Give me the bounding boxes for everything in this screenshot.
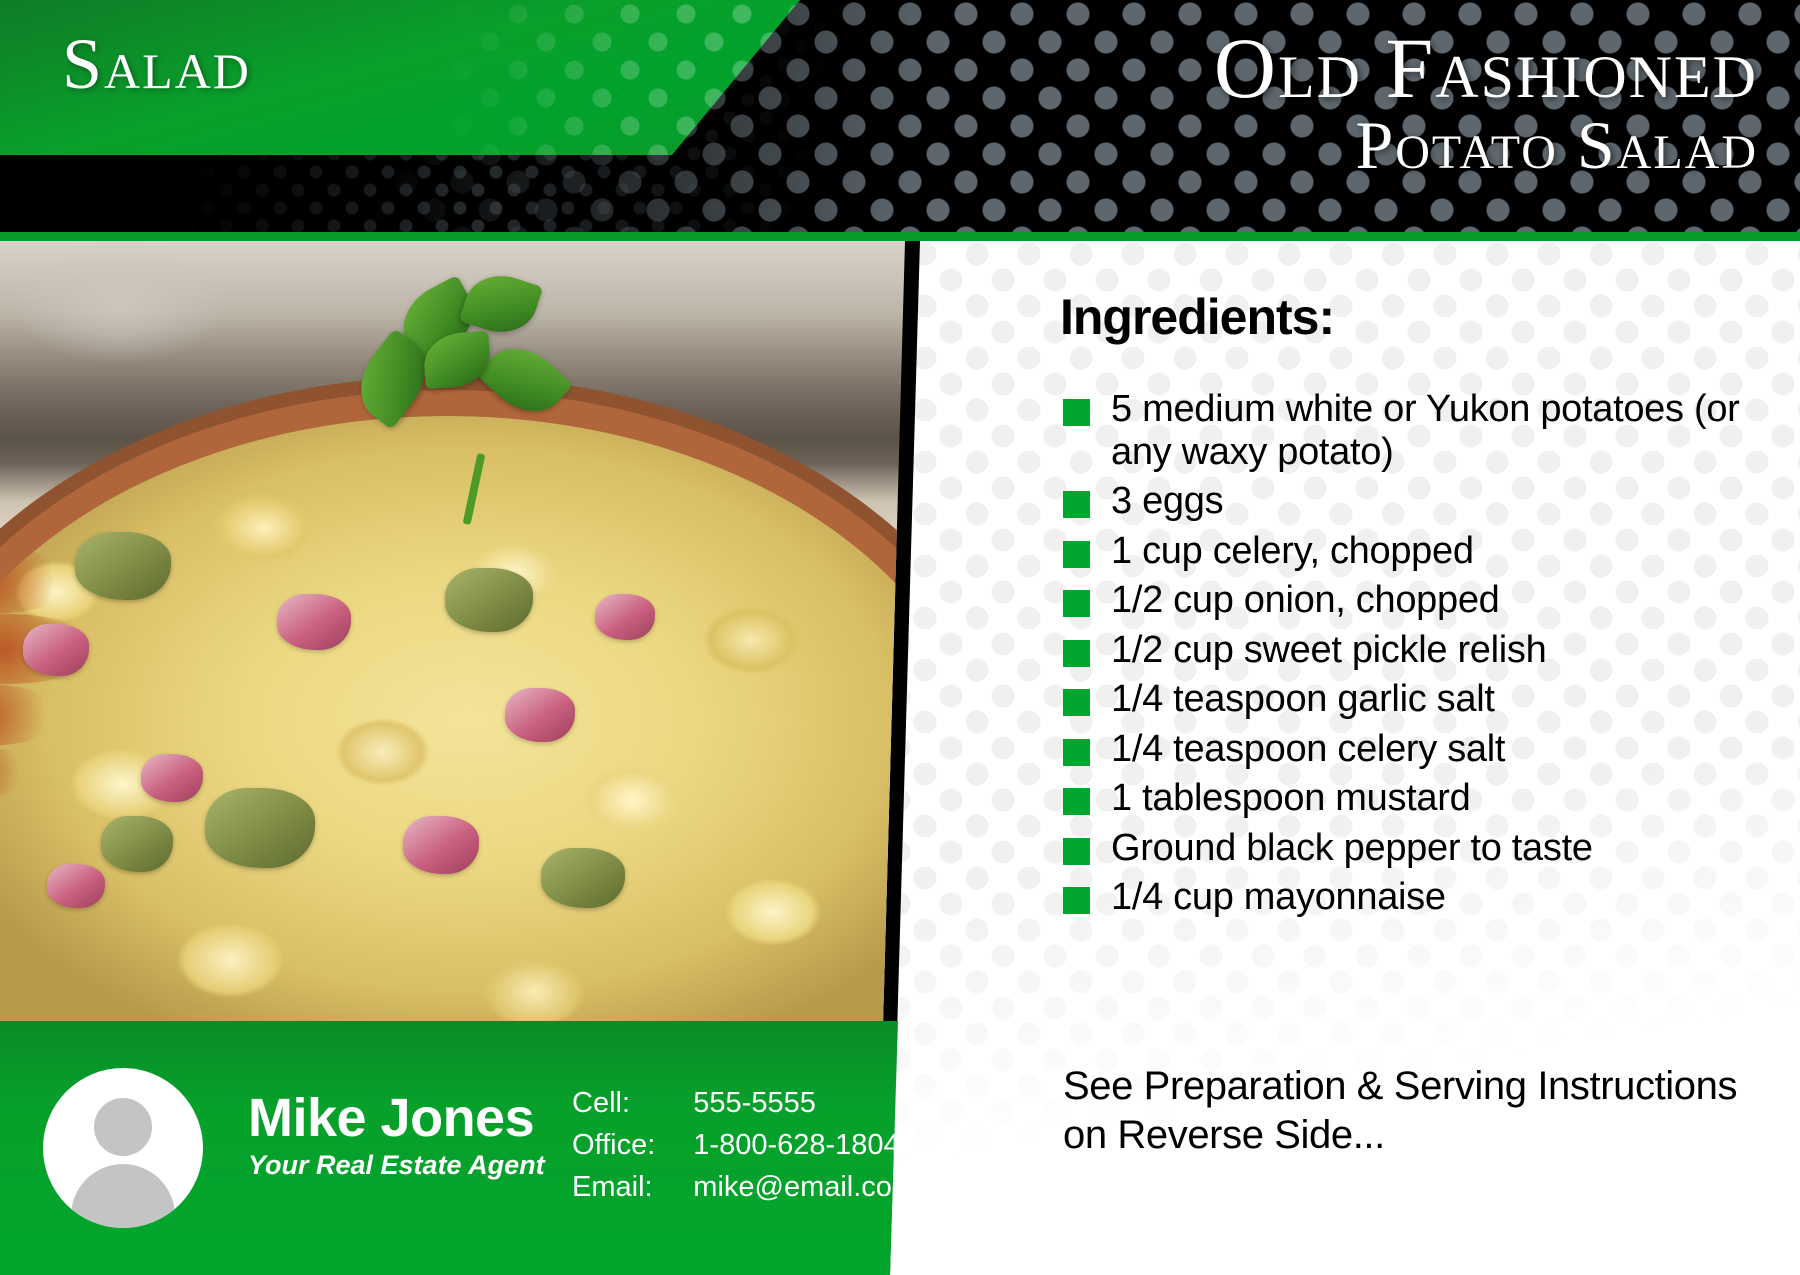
ingredient-text: 3 eggs <box>1111 480 1223 522</box>
bullet-square-icon <box>1063 590 1090 617</box>
onion-piece <box>595 594 655 640</box>
contact-value-cell[interactable]: 555-5555 <box>693 1083 916 1125</box>
bullet-square-icon <box>1063 399 1090 426</box>
ingredient-item: 1 cup celery, chopped <box>1063 530 1753 573</box>
contact-value-office[interactable]: 1-800-628-1804 <box>693 1125 916 1167</box>
paprika-sprinkle <box>0 548 75 614</box>
ingredient-text: 1/4 teaspoon celery salt <box>1111 728 1505 770</box>
contact-label-cell: Cell: <box>572 1083 693 1125</box>
bullet-square-icon <box>1063 838 1090 865</box>
ingredients-heading: Ingredients: <box>1060 288 1334 346</box>
onion-piece <box>505 688 575 742</box>
pickle-piece <box>75 532 171 600</box>
ingredient-item: 1 tablespoon mustard <box>1063 777 1753 820</box>
bullet-square-icon <box>1063 689 1090 716</box>
bullet-square-icon <box>1063 887 1090 914</box>
paprika-sprinkle <box>0 488 55 548</box>
recipe-card: Salad Old Fashioned Potato Salad <box>0 0 1800 1275</box>
contact-row: Cell: 555-5555 <box>572 1083 916 1125</box>
recipe-title-line2: Potato Salad <box>1214 112 1758 179</box>
ingredient-item: 1/4 teaspoon celery salt <box>1063 728 1753 771</box>
onion-piece <box>23 624 89 676</box>
ingredient-item: 1/2 cup onion, chopped <box>1063 579 1753 622</box>
bullet-square-icon <box>1063 541 1090 568</box>
recipe-title: Old Fashioned Potato Salad <box>1214 26 1758 179</box>
reverse-side-note: See Preparation & Serving Instructions o… <box>1063 1062 1763 1160</box>
ingredient-item: 1/4 cup mayonnaise <box>1063 876 1753 919</box>
contact-label-office: Office: <box>572 1125 693 1167</box>
pickle-piece <box>101 816 173 872</box>
ingredients-list: 5 medium white or Yukon potatoes (or any… <box>1063 388 1753 926</box>
avatar-body-icon <box>71 1164 175 1228</box>
pickle-piece <box>445 568 533 632</box>
agent-name: Mike Jones <box>248 1091 534 1145</box>
ingredient-text: 1/4 cup mayonnaise <box>1111 876 1446 918</box>
onion-piece <box>47 864 105 908</box>
ingredient-item: Ground black pepper to taste <box>1063 827 1753 870</box>
ingredient-text: 1 tablespoon mustard <box>1111 777 1470 819</box>
agent-contact-table: Cell: 555-5555 Office: 1-800-628-1804 Em… <box>572 1083 916 1208</box>
ingredient-item: 1/2 cup sweet pickle relish <box>1063 629 1753 672</box>
bullet-square-icon <box>1063 788 1090 815</box>
avatar-head-icon <box>94 1098 152 1156</box>
contact-row: Office: 1-800-628-1804 <box>572 1125 916 1167</box>
ingredient-text: 1 cup celery, chopped <box>1111 530 1474 572</box>
photo-background <box>0 241 912 1031</box>
bullet-square-icon <box>1063 739 1090 766</box>
ingredient-text: 1/2 cup onion, chopped <box>1111 579 1500 621</box>
parsley-leaf <box>477 332 574 427</box>
header-green-rule <box>0 232 1800 241</box>
onion-piece <box>403 816 479 874</box>
paprika-sprinkle <box>0 746 35 798</box>
contact-value-email[interactable]: mike@email.com <box>693 1167 916 1209</box>
ingredient-text: Ground black pepper to taste <box>1111 827 1593 869</box>
ingredient-item: 3 eggs <box>1063 480 1753 523</box>
agent-title: Your Real Estate Agent <box>248 1152 545 1179</box>
bullet-square-icon <box>1063 491 1090 518</box>
card-header: Salad Old Fashioned Potato Salad <box>0 0 1800 240</box>
pickle-piece <box>541 848 625 908</box>
ingredient-item: 1/4 teaspoon garlic salt <box>1063 678 1753 721</box>
onion-piece <box>141 754 203 802</box>
ingredient-text: 1/2 cup sweet pickle relish <box>1111 629 1546 671</box>
bullet-square-icon <box>1063 640 1090 667</box>
paprika-sprinkle <box>0 684 65 746</box>
paprika-sprinkle <box>0 416 25 488</box>
recipe-category-label: Salad <box>62 28 251 100</box>
ingredient-text: 5 medium white or Yukon potatoes (or any… <box>1111 388 1740 473</box>
avatar <box>43 1068 203 1228</box>
recipe-title-line1: Old Fashioned <box>1214 26 1758 110</box>
agent-footer-bar: Mike Jones Your Real Estate Agent Cell: … <box>0 1021 920 1275</box>
contact-label-email: Email: <box>572 1167 693 1209</box>
pickle-piece <box>205 788 315 868</box>
onion-piece <box>277 594 351 650</box>
ingredient-item: 5 medium white or Yukon potatoes (or any… <box>1063 388 1753 473</box>
ingredient-text: 1/4 teaspoon garlic salt <box>1111 678 1495 720</box>
contact-row: Email: mike@email.com <box>572 1167 916 1209</box>
